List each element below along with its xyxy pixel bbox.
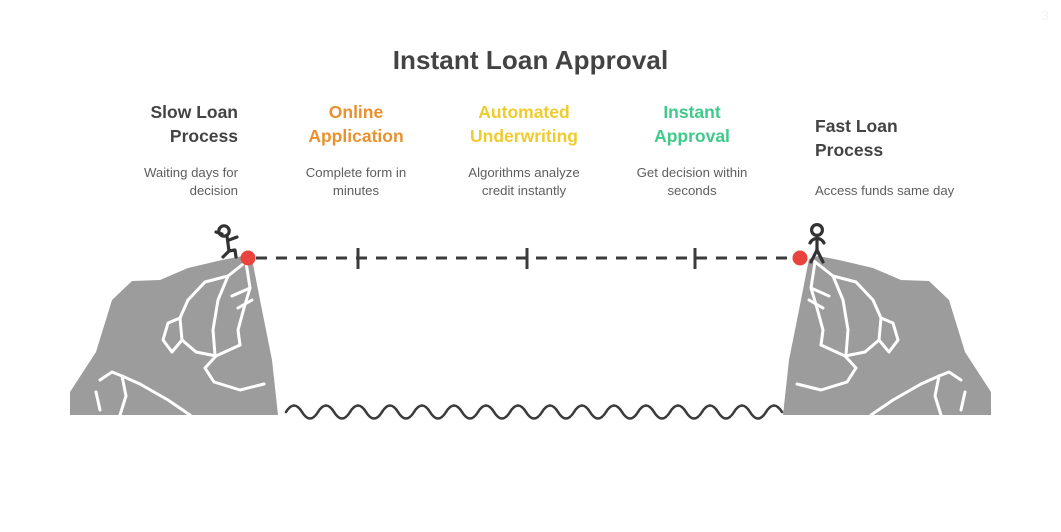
figure-head [812,225,823,236]
right-mountain-shape [783,256,991,415]
cliff-journey-illustration [0,0,1061,532]
figure-arm-front [229,237,237,240]
journey-dashed-path [256,248,792,269]
slide-canvas: 3 Instant Loan Approval Slow Loan Proces… [0,0,1061,532]
end-point-marker [793,251,808,266]
water-wave-line [286,406,782,419]
figure-leg-front [229,250,236,257]
walking-stick-figure [216,226,237,257]
right-mountain [783,256,991,415]
left-mountain-shape [70,256,278,415]
left-mountain [70,256,278,415]
figure-arm-back [216,232,222,234]
start-point-marker [241,251,256,266]
figure-torso [227,236,229,251]
